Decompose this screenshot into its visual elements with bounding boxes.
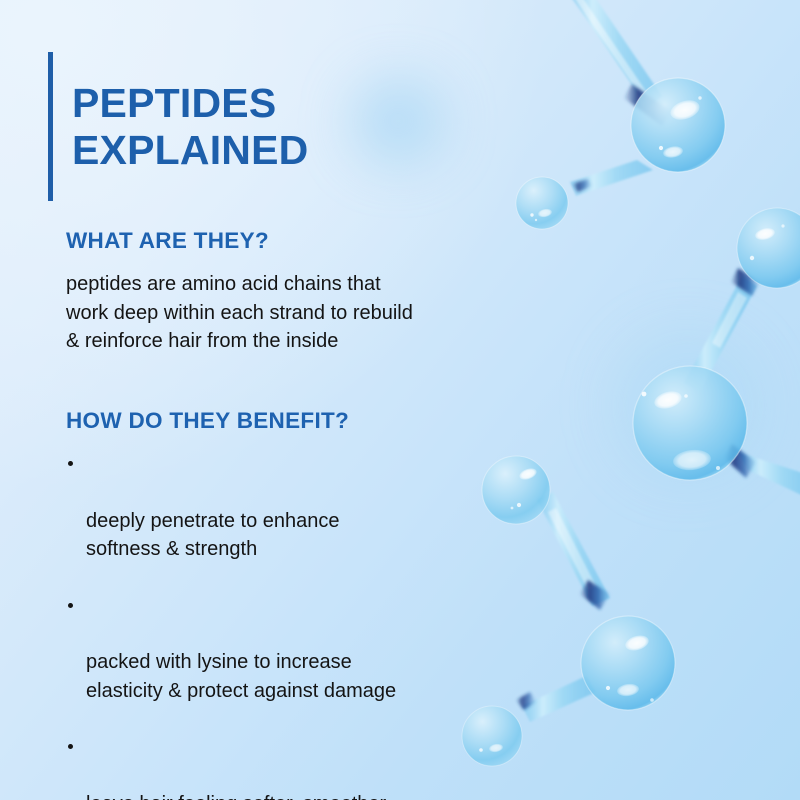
vertical-accent-bar [48, 52, 53, 201]
page-title: PEPTIDES EXPLAINED [72, 79, 308, 173]
list-item-label: leave hair feeling softer, smoother, & e… [86, 793, 391, 800]
list-item-label: packed with lysine to increase elasticit… [86, 651, 396, 701]
section-what-are-they: WHAT ARE THEY? peptides are amino acid c… [66, 228, 536, 356]
page-title-block: PEPTIDES EXPLAINED [48, 52, 308, 201]
list-item: deeply penetrate to enhance softness & s… [66, 450, 536, 564]
bullet-dot-icon [68, 461, 73, 466]
list-item-label: deeply penetrate to enhance softness & s… [86, 510, 340, 560]
content-layer: PEPTIDES EXPLAINED WHAT ARE THEY? peptid… [0, 0, 800, 800]
list-item: packed with lysine to increase elasticit… [66, 592, 536, 706]
list-item: leave hair feeling softer, smoother, & e… [66, 733, 536, 800]
bullet-dot-icon [68, 603, 73, 608]
bullet-dot-icon [68, 744, 73, 749]
section-heading-what-are-they: WHAT ARE THEY? [66, 228, 536, 254]
section-body-what-are-they: peptides are amino acid chains that work… [66, 270, 536, 356]
benefit-bullet-list: deeply penetrate to enhance softness & s… [66, 450, 536, 800]
section-how-do-they-benefit: HOW DO THEY BENEFIT? deeply penetrate to… [66, 408, 536, 800]
section-heading-how-do-they-benefit: HOW DO THEY BENEFIT? [66, 408, 536, 434]
infographic-canvas: PEPTIDES EXPLAINED WHAT ARE THEY? peptid… [0, 0, 800, 800]
